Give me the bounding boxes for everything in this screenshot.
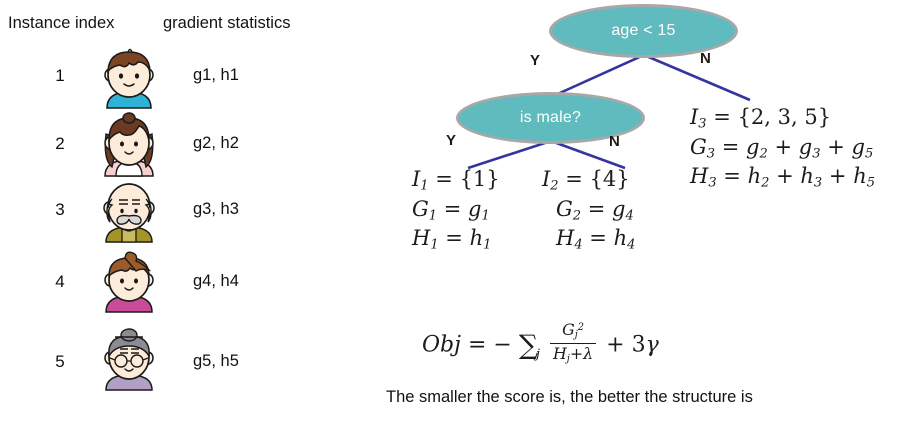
equals: =	[435, 167, 453, 191]
subscript: 1	[429, 208, 437, 223]
leaf-left-H: H1 = h1	[412, 225, 500, 255]
leaf-middle-I: I2 = {4}	[542, 166, 635, 196]
table-row: 4 g4, h4	[0, 248, 360, 314]
equals: =	[444, 197, 462, 221]
young-woman-avatar-icon	[95, 112, 163, 178]
plus: +	[774, 135, 792, 159]
subscript: 3	[698, 117, 706, 132]
instance-table: Instance index gradient statistics 1	[0, 0, 360, 421]
subscript: 3	[812, 146, 820, 161]
leaf-stats-left: I1 = {1} G1 = g1 H1 = h1	[412, 166, 500, 255]
leaf-left-I: I1 = {1}	[412, 166, 500, 196]
term: h	[800, 164, 814, 188]
equals: =	[445, 226, 463, 250]
leaf-stats-right: I3 = {2, 3, 5} G3 = g2 + g3 + g5 H3 = h2…	[690, 104, 875, 193]
figure-root: Instance index gradient statistics 1	[0, 0, 920, 421]
equals: =	[722, 135, 740, 159]
symbol-G: G	[690, 135, 707, 159]
gamma-symbol: γ	[646, 332, 659, 357]
leaf-right-G: G3 = g2 + g3 + g5	[690, 134, 875, 164]
symbol-G: G	[412, 197, 429, 221]
leaf-right-I-value: {2, 3, 5}	[738, 105, 832, 129]
row-index: 5	[48, 352, 72, 372]
summation-index: j	[536, 347, 540, 362]
row-gradient-stat: g5, h5	[193, 352, 239, 371]
leaf-left-I-value: {1}	[460, 167, 500, 191]
leaf-middle-I-value: {4}	[590, 167, 630, 191]
equals: =	[723, 164, 741, 188]
caption-text: The smaller the score is, the better the…	[386, 388, 753, 407]
row-index: 4	[48, 272, 72, 292]
equals: =	[589, 226, 607, 250]
old-man-avatar-icon	[95, 178, 163, 244]
table-row: 3 g3, h3	[0, 178, 360, 244]
subscript: 5	[865, 146, 873, 161]
lambda-symbol: λ	[583, 344, 593, 363]
subscript: 2	[550, 179, 558, 194]
row-index: 2	[48, 134, 72, 154]
column-header-gradient-statistics: gradient statistics	[163, 14, 290, 33]
objective-lhs: Obj	[422, 332, 461, 357]
girl-avatar-icon	[95, 248, 163, 314]
subscript: 1	[483, 238, 491, 253]
subscript: 2	[761, 176, 769, 191]
leaf-middle-H-value: h	[614, 226, 628, 250]
term: g	[746, 135, 759, 159]
row-gradient-stat: g4, h4	[193, 272, 239, 291]
equals: =	[588, 197, 606, 221]
tree-node-is-male-label: is male?	[520, 109, 581, 127]
row-index: 3	[48, 200, 72, 220]
term: h	[748, 164, 762, 188]
edge-label-root-yes: Y	[530, 52, 540, 69]
subscript: 1	[482, 208, 490, 223]
subscript: 1	[420, 179, 428, 194]
leaf-left-G: G1 = g1	[412, 196, 500, 226]
fraction-denominator: Hj+λ	[550, 343, 596, 367]
table-row: 2 g2, h2	[0, 112, 360, 178]
subscript: 4	[627, 238, 635, 253]
edge-label-root-no: N	[700, 50, 711, 67]
leaf-right-H: H3 = h2 + h3 + h5	[690, 163, 875, 193]
leaf-middle-G-value: g	[612, 197, 625, 221]
plus: +	[829, 164, 847, 188]
coefficient: 3	[632, 332, 646, 357]
fraction: Gj2 Hj+λ	[550, 320, 596, 366]
superscript: 2	[578, 322, 584, 333]
subscript: 3	[708, 176, 716, 191]
symbol-H: H	[553, 344, 567, 363]
subscript: 4	[574, 238, 582, 253]
leaf-stats-middle: I2 = {4} G2 = g4 H4 = h4	[542, 166, 635, 255]
subscript: 2	[573, 208, 581, 223]
leaf-left-G-value: g	[468, 197, 481, 221]
objective-formula: Obj = − ∑j Gj2 Hj+λ + 3γ	[422, 320, 659, 366]
plus: +	[606, 332, 624, 357]
edge-label-is-male-yes: Y	[446, 132, 456, 149]
leaf-middle-H: H4 = h4	[542, 225, 635, 255]
leaf-left-H-value: h	[470, 226, 484, 250]
decision-tree-diagram: age < 15 is male? Y N Y N I1 = {1} G1 = …	[360, 0, 920, 421]
boy-avatar-icon	[95, 46, 163, 112]
row-gradient-stat: g2, h2	[193, 134, 239, 153]
fraction-numerator: Gj2	[550, 320, 596, 343]
row-index: 1	[48, 66, 72, 86]
subscript: 3	[707, 146, 715, 161]
symbol-H: H	[556, 226, 574, 250]
equals: =	[468, 332, 486, 357]
term: g	[851, 135, 864, 159]
subscript: 1	[430, 238, 438, 253]
subscript: 2	[760, 146, 768, 161]
tree-node-root-label: age < 15	[611, 22, 675, 40]
plus: +	[776, 164, 794, 188]
term: g	[799, 135, 812, 159]
symbol-H: H	[412, 226, 430, 250]
subscript: 3	[814, 176, 822, 191]
table-row: 1 g1, h1	[0, 46, 360, 112]
equals: =	[713, 105, 731, 129]
subscript: 4	[626, 208, 634, 223]
table-row: 5 g5, h5	[0, 326, 360, 392]
term: h	[853, 164, 867, 188]
plus: +	[570, 344, 583, 363]
symbol-G: G	[556, 197, 573, 221]
row-gradient-stat: g3, h3	[193, 200, 239, 219]
column-header-instance-index: Instance index	[8, 14, 114, 33]
leaf-right-I: I3 = {2, 3, 5}	[690, 104, 875, 134]
leaf-middle-G: G2 = g4	[542, 196, 635, 226]
minus-sign: −	[493, 332, 511, 357]
symbol-G: G	[562, 320, 575, 339]
edge-label-is-male-no: N	[609, 133, 620, 150]
row-gradient-stat: g1, h1	[193, 66, 239, 85]
old-woman-avatar-icon	[95, 326, 163, 392]
symbol-H: H	[690, 164, 708, 188]
equals: =	[565, 167, 583, 191]
subscript: 5	[867, 176, 875, 191]
plus: +	[827, 135, 845, 159]
